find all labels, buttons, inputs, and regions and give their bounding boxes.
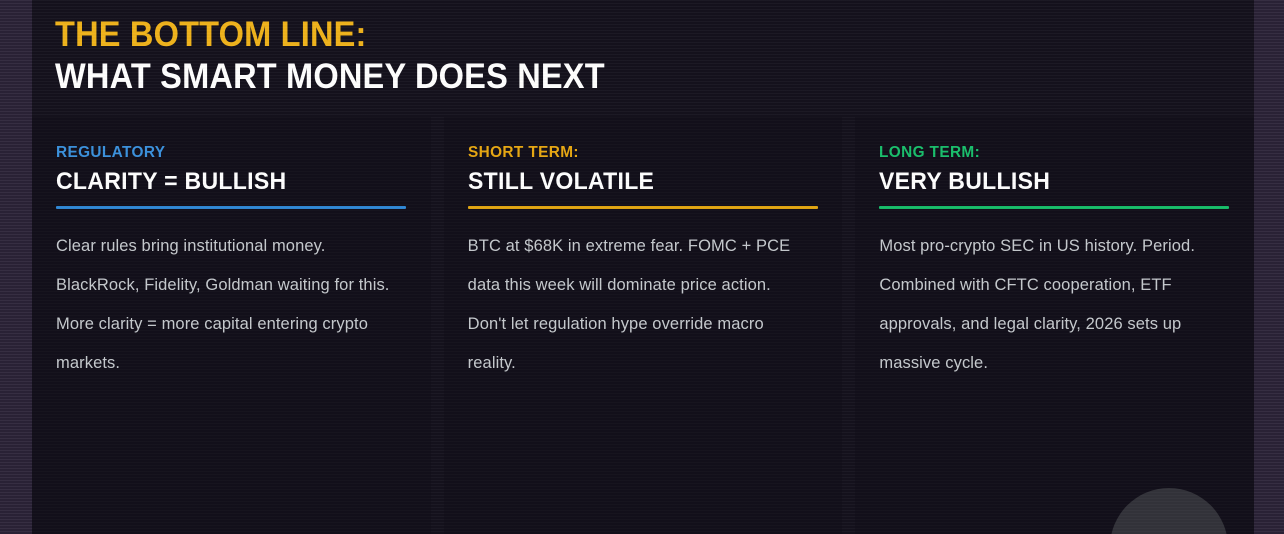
- card-accent-rule: [468, 206, 818, 209]
- page-title-main: WHAT SMART MONEY DOES NEXT: [55, 56, 1078, 98]
- page-title: THE BOTTOM LINE: WHAT SMART MONEY DOES N…: [55, 14, 1155, 98]
- card-accent-rule: [879, 206, 1229, 209]
- card-body-text: Clear rules bring institutional money. B…: [56, 227, 396, 383]
- insight-card-regulatory: REGULATORY CLARITY = BULLISH Clear rules…: [32, 117, 431, 534]
- card-heading: CLARITY = BULLISH: [56, 167, 393, 197]
- card-accent-rule: [56, 206, 406, 209]
- card-label: LONG TERM:: [879, 143, 1216, 163]
- card-label: SHORT TERM:: [468, 143, 805, 163]
- card-label: REGULATORY: [56, 143, 393, 163]
- card-body-text: BTC at $68K in extreme fear. FOMC + PCE …: [468, 227, 808, 383]
- slide-content: THE BOTTOM LINE: WHAT SMART MONEY DOES N…: [0, 0, 1284, 534]
- insight-card-short-term: SHORT TERM: STILL VOLATILE BTC at $68K i…: [444, 117, 843, 534]
- page-title-kicker: THE BOTTOM LINE:: [55, 14, 1078, 56]
- card-heading: STILL VOLATILE: [468, 167, 805, 197]
- card-heading: VERY BULLISH: [879, 167, 1216, 197]
- insight-card-long-term: LONG TERM: VERY BULLISH Most pro-crypto …: [855, 117, 1254, 534]
- insight-card-list: REGULATORY CLARITY = BULLISH Clear rules…: [32, 117, 1254, 534]
- decorative-circle: [1110, 488, 1228, 534]
- card-body-text: Most pro-crypto SEC in US history. Perio…: [879, 227, 1219, 383]
